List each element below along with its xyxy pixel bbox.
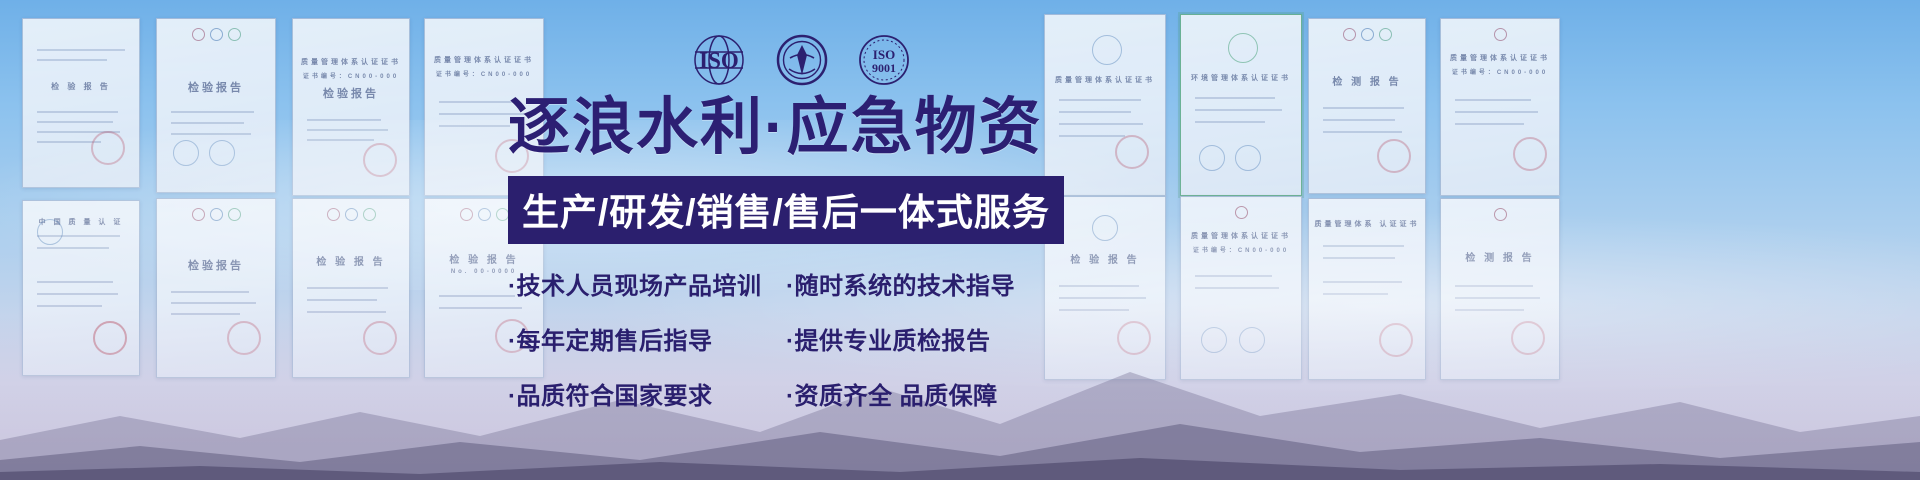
feature-item: ·随时系统的技术指导 [786,266,1088,301]
certificate-thumb: 检验报告 [156,18,276,193]
certificate-thumb: 检 测 报 告 [1308,18,1426,194]
banner-copy: 逐浪水利·应急物资 生产/研发/销售/售后一体式服务 ·技术人员现场产品培训 ·… [508,95,1088,411]
subtitle-bar: 生产/研发/销售/售后一体式服务 [508,176,1064,244]
feature-item: ·提供专业质检报告 [786,321,1088,356]
feature-item: ·技术人员现场产品培训 [508,266,786,301]
iso-globe-badge: ISO [690,34,748,91]
certificate-thumb: 质量管理体系认证证书 证书编号：CN00-000 [1440,18,1560,196]
svg-text:ISO: ISO [699,48,739,73]
feature-item: ·品质符合国家要求 [508,376,786,411]
certificate-thumb: 检 验 报 告 [22,18,140,188]
promo-banner: 检 验 报 告 检验报告 质量管理体系认证证书 证书编号：CN00-000 检验… [0,0,1920,480]
feature-item: ·每年定期售后指导 [508,321,786,356]
certificate-thumb: 质量管理体系认证证书 证书编号：CN00-000 检验报告 [292,18,410,196]
certificate-thumb: 环境管理体系认证证书 [1180,14,1302,196]
iso-9001-badge: ISO 9001 [856,34,912,91]
page-title: 逐浪水利·应急物资 [508,95,1088,160]
certification-badges: ISO ISO 9001 [690,34,912,91]
svg-text:ISO: ISO [873,47,895,62]
circular-seal-badge [776,34,828,91]
feature-list: ·技术人员现场产品培训 ·随时系统的技术指导 ·每年定期售后指导 ·提供专业质检… [508,266,1088,411]
svg-text:9001: 9001 [872,61,896,75]
feature-item: ·资质齐全 品质保障 [786,376,1088,411]
